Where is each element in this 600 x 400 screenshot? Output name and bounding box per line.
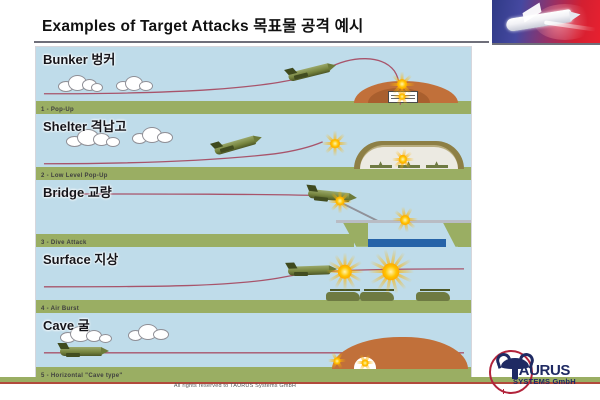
logo-tick: [503, 389, 504, 394]
attack-band-shelter: Shelter 격납고 2 - Low Level Pop-Up: [36, 114, 471, 181]
attack-profiles-panel: Bunker 벙커 1 - Pop-Up: [35, 46, 472, 379]
helicopter-icon: [416, 292, 450, 301]
profile-label-4: 4 - Air Burst: [41, 306, 79, 312]
explosion-icon: [328, 189, 352, 213]
explosion-icon: [392, 207, 418, 233]
profile-label-5: 5 - Horizontal "Cave type": [41, 373, 123, 379]
page-title: Examples of Target Attacks 목표물 공격 예시: [42, 14, 364, 36]
slide-canvas: Examples of Target Attacks 목표물 공격 예시: [0, 0, 600, 400]
explosion-icon: [322, 131, 348, 157]
band-title-bunker: Bunker 벙커: [43, 49, 115, 68]
helicopter-icon: [326, 292, 360, 301]
band-title-surface: Surface 지상: [43, 249, 118, 268]
copyright-note: All rights reserved to TAURUS Systems Gm…: [0, 383, 470, 389]
band-title-bridge: Bridge 교량: [43, 182, 112, 201]
missile-wing: [294, 272, 308, 276]
explosion-icon: [326, 253, 364, 291]
attack-band-cave: Cave 굴 5 - Horizontal "Cave type": [36, 313, 471, 380]
explosion-icon: [328, 352, 346, 370]
explosion-icon: [356, 354, 374, 372]
explosion-icon: [392, 148, 414, 170]
explosion-icon: [393, 88, 411, 106]
missile-banner-image: [492, 0, 600, 44]
missile-wing: [66, 353, 80, 357]
band-title-shelter: Shelter 격납고: [43, 116, 127, 135]
taurus-logo: TAURUS SYSTEMS GmbH: [487, 348, 587, 394]
profile-label-2: 2 - Low Level Pop-Up: [41, 173, 108, 179]
banner-underline: [492, 43, 600, 45]
attack-band-bridge: Bridge 교량 3 - Dive Attack: [36, 180, 471, 247]
logo-subtitle: SYSTEMS GmbH: [513, 377, 576, 386]
explosion-icon: [368, 249, 414, 295]
band-title-cave: Cave 굴: [43, 315, 90, 334]
header-divider: [34, 41, 489, 43]
attack-band-surface: Surface 지상 4 - Air Burst: [36, 247, 471, 314]
profile-label-3: 3 - Dive Attack: [41, 240, 87, 246]
attack-band-bunker: Bunker 벙커 1 - Pop-Up: [36, 47, 471, 114]
water: [368, 239, 446, 247]
profile-label-1: 1 - Pop-Up: [41, 107, 74, 113]
